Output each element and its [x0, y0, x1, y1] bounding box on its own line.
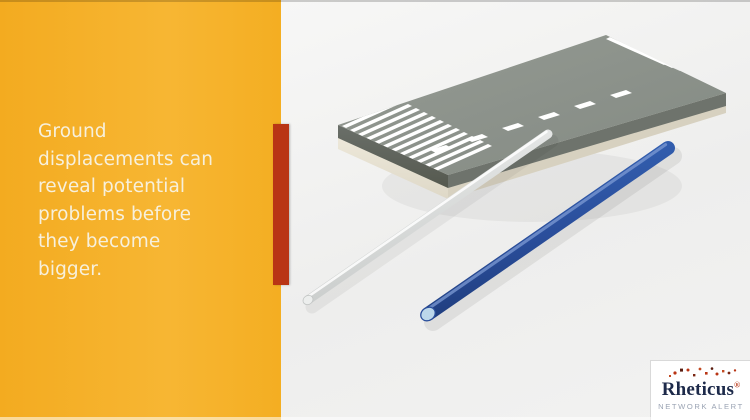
caption-text: Ground displacements can reveal potentia… — [38, 118, 260, 283]
logo-tagline: NETWORK ALERT — [651, 402, 750, 411]
logo-wordmark: Rheticus® — [651, 379, 750, 401]
video-frame: Ground displacements can reveal potentia… — [0, 0, 750, 420]
red-accent-bar — [273, 124, 289, 285]
logo-wordmark-text: Rheticus — [662, 379, 734, 400]
frame-top-edge — [0, 0, 750, 2]
illustration-scene — [280, 0, 750, 420]
logo-trademark: ® — [734, 381, 740, 390]
road-and-pipes-illustration — [280, 0, 750, 420]
rheticus-logo[interactable]: Rheticus® NETWORK ALERT — [650, 360, 750, 420]
